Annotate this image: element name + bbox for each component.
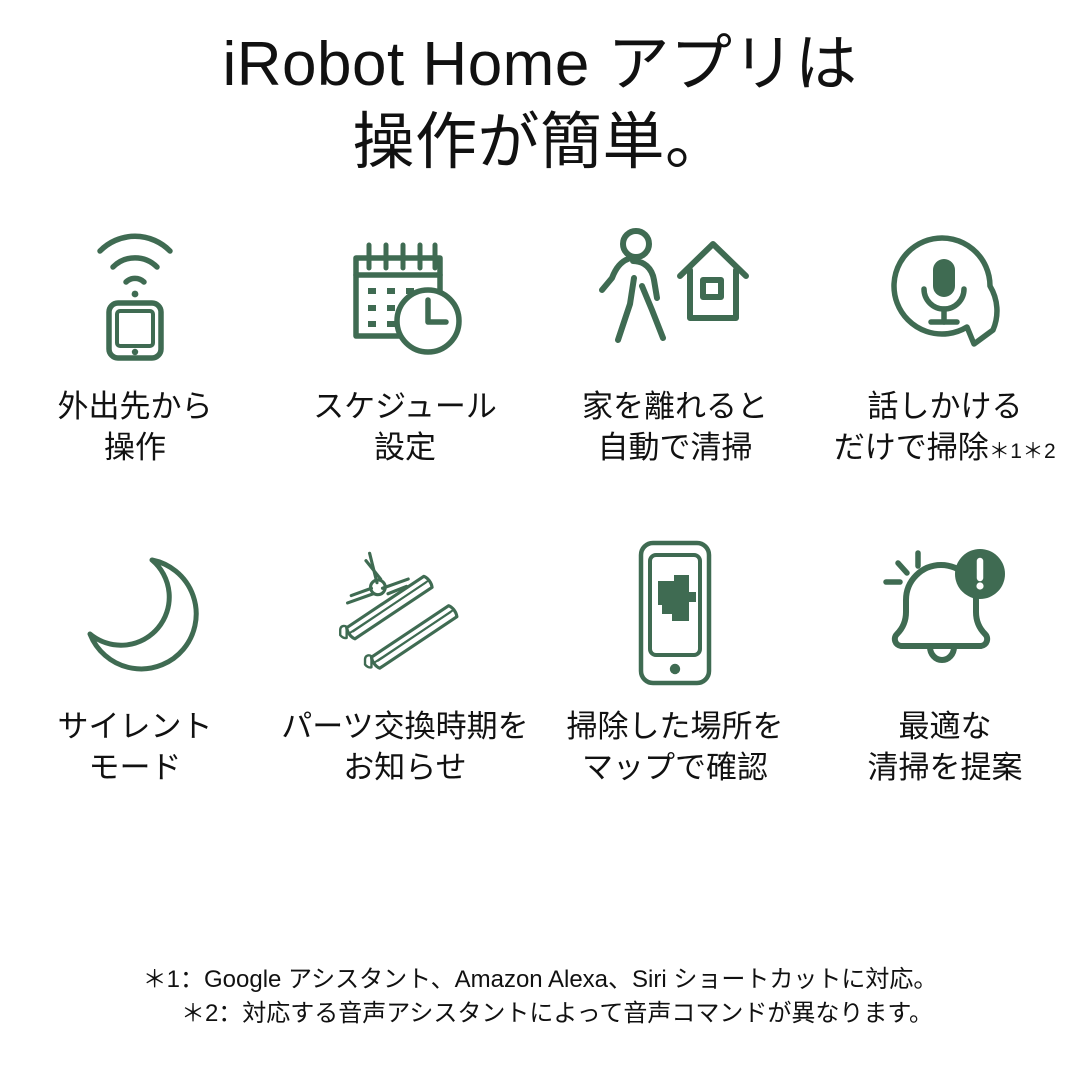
feature-label: サイレント モード [58, 706, 213, 788]
feature-label-line-2: 操作 [58, 427, 213, 468]
feature-label-line-2: 設定 [313, 427, 497, 468]
feature-label: パーツ交換時期を お知らせ [281, 706, 528, 788]
feature-label-line-1: サイレント [58, 706, 213, 747]
feature-label-line-2: だけで掃除＊1＊2 [834, 427, 1056, 472]
feature-label-line-1: 掃除した場所を [567, 706, 784, 747]
crescent-moon-icon [50, 528, 220, 698]
feature-grid: 外出先から 操作 [0, 208, 1080, 788]
feature-label-line-2: お知らせ [281, 747, 528, 788]
irobot-home-app-feature-poster: iRobot Home アプリは 操作が簡単。 [0, 0, 1080, 1067]
feature-label-line-2: マップで確認 [567, 747, 784, 788]
page-title: iRobot Home アプリは 操作が簡単。 [0, 0, 1080, 182]
feature-label-line-2: モード [58, 747, 213, 788]
feature-silent-mode: サイレント モード [0, 528, 270, 788]
feature-label-line-2: 清掃を提案 [868, 747, 1023, 788]
feature-label: 話しかける だけで掃除＊1＊2 [834, 386, 1056, 472]
feature-label-line-1: 最適な [868, 706, 1023, 747]
feature-label-line-1: パーツ交換時期を [281, 706, 528, 747]
smartphone-map-icon [590, 528, 760, 698]
smartphone-wifi-icon [50, 208, 220, 378]
footnote-2: ＊2：対応する音声アシスタントによって音声コマンドが異なります。 [0, 997, 1080, 1031]
bell-alert-icon [860, 528, 1030, 698]
feature-label: スケジュール 設定 [313, 386, 497, 468]
footnote-marks: ＊1＊2 [989, 440, 1056, 463]
feature-voice-control: 話しかける だけで掃除＊1＊2 [810, 208, 1080, 472]
feature-label: 外出先から 操作 [58, 386, 213, 468]
page-title-line-2: 操作が簡単。 [0, 104, 1080, 182]
feature-label-line-1: 家を離れると [582, 386, 768, 427]
feature-cleaning-suggestion: 最適な 清掃を提案 [810, 528, 1080, 788]
feature-row-1: 外出先から 操作 [0, 208, 1080, 472]
feature-label: 掃除した場所を マップで確認 [567, 706, 784, 788]
feature-clean-map: 掃除した場所を マップで確認 [540, 528, 810, 788]
feature-label: 最適な 清掃を提案 [868, 706, 1023, 788]
feature-label-line-1: 外出先から [58, 386, 213, 427]
feature-schedule: スケジュール 設定 [270, 208, 540, 472]
feature-label: 家を離れると 自動で清掃 [582, 386, 768, 468]
person-leaving-house-icon [590, 208, 760, 378]
feature-remote-control: 外出先から 操作 [0, 208, 270, 472]
feature-label-line-1: 話しかける [834, 386, 1056, 427]
footnotes: ＊1：Google アシスタント、Amazon Alexa、Siri ショートカ… [0, 963, 1080, 1067]
footnote-1: ＊1：Google アシスタント、Amazon Alexa、Siri ショートカ… [0, 963, 1080, 997]
feature-row-2: サイレント モード [0, 528, 1080, 788]
page-title-line-1: iRobot Home アプリは [0, 26, 1080, 104]
brush-rollers-parts-icon [320, 528, 490, 698]
feature-auto-clean-away: 家を離れると 自動で清掃 [540, 208, 810, 472]
feature-label-line-2: 自動で清掃 [582, 427, 768, 468]
feature-parts-replacement: パーツ交換時期を お知らせ [270, 528, 540, 788]
feature-label-line-1: スケジュール [313, 386, 497, 427]
calendar-clock-icon [320, 208, 490, 378]
voice-bubble-microphone-icon [860, 208, 1030, 378]
